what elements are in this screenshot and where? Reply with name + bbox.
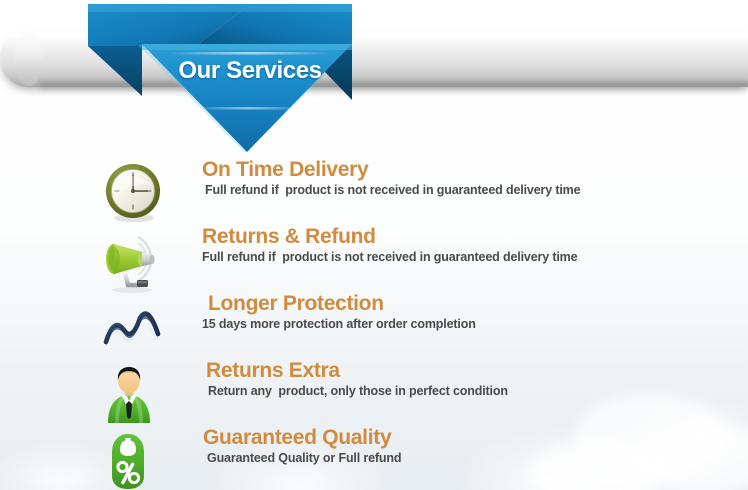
megaphone-icon xyxy=(98,227,168,294)
service-title: Guaranteed Quality xyxy=(200,426,738,450)
percent-tag-icon xyxy=(98,428,168,490)
person-icon xyxy=(98,361,168,428)
service-subtitle: Guaranteed Quality or Full refund xyxy=(200,450,738,467)
service-title: Longer Protection xyxy=(200,292,738,316)
wave-icon xyxy=(98,298,168,365)
service-item[interactable]: Returns Extra Return any product, only t… xyxy=(0,359,748,426)
service-text-block: On Time Delivery Full refund if product … xyxy=(200,158,738,199)
service-text-block: Returns Extra Return any product, only t… xyxy=(200,359,738,400)
service-item[interactable]: On Time Delivery Full refund if product … xyxy=(0,158,748,225)
clock-icon xyxy=(98,160,168,227)
service-text-block: Longer Protection 15 days more protectio… xyxy=(200,292,738,333)
header-tube-bar-shadow xyxy=(40,82,748,92)
header-tube-bar-cap xyxy=(14,31,44,86)
service-item[interactable]: Returns & Refund Full refund if product … xyxy=(0,225,748,292)
service-subtitle: Full refund if product is not received i… xyxy=(200,182,738,199)
service-subtitle: Full refund if product is not received i… xyxy=(200,249,738,266)
services-list: On Time Delivery Full refund if product … xyxy=(0,158,748,490)
services-banner-page: Our Services xyxy=(0,0,748,490)
service-subtitle: Return any product, only those in perfec… xyxy=(200,383,738,400)
service-text-block: Guaranteed Quality Guaranteed Quality or… xyxy=(200,426,738,467)
header-tube-bar xyxy=(0,30,748,87)
service-title: Returns & Refund xyxy=(200,225,738,249)
service-title: On Time Delivery xyxy=(200,158,738,182)
service-subtitle: 15 days more protection after order comp… xyxy=(200,316,738,333)
service-item[interactable]: Guaranteed Quality Guaranteed Quality or… xyxy=(0,426,748,490)
service-item[interactable]: Longer Protection 15 days more protectio… xyxy=(0,292,748,359)
service-title: Returns Extra xyxy=(200,359,738,383)
service-text-block: Returns & Refund Full refund if product … xyxy=(200,225,738,266)
